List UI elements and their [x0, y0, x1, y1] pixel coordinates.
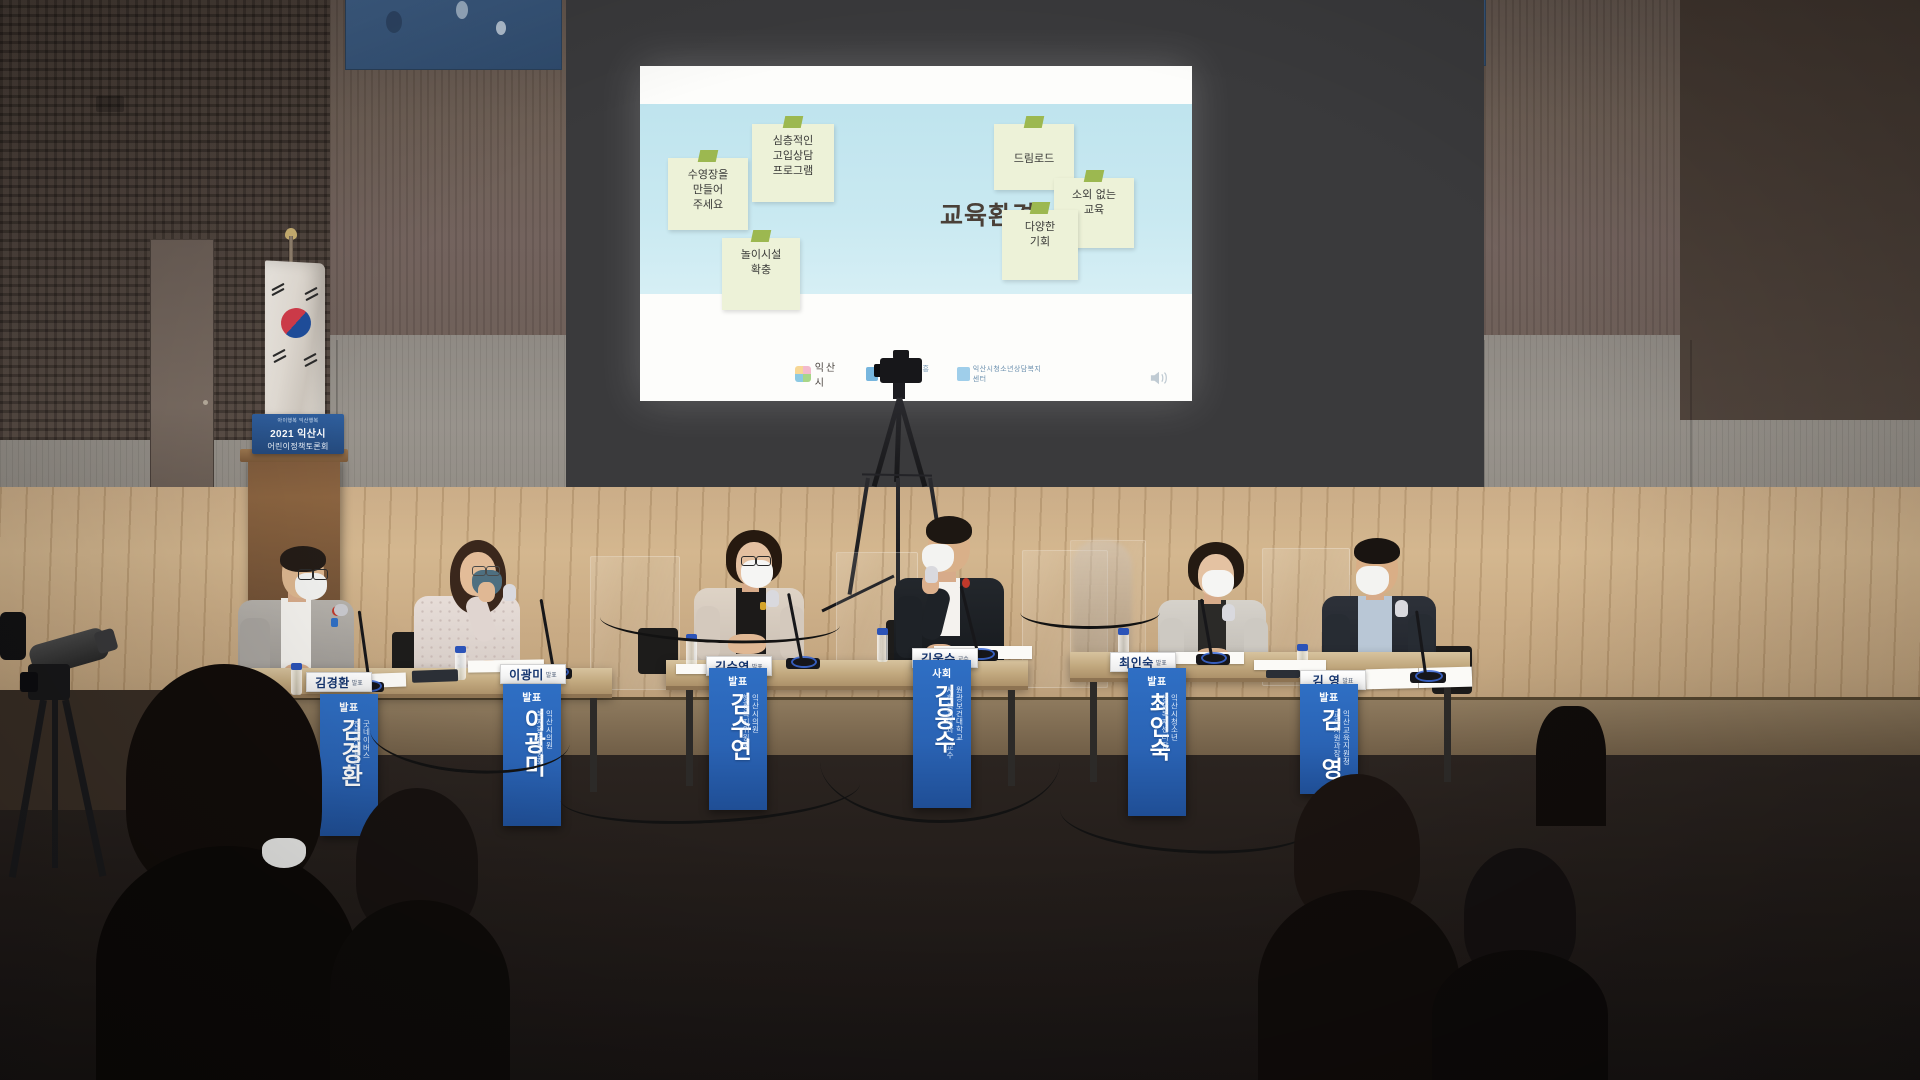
placard-role: 발표: [339, 699, 358, 714]
placard-title: 굿네이버스 전북지역본부: [352, 720, 371, 767]
iksan-logo-mark: [795, 366, 811, 382]
floor-cable: [820, 700, 1060, 823]
camera-operator-silhouette: [0, 612, 26, 660]
placard-role: 사회: [932, 665, 951, 680]
water-bottle[interactable]: [291, 669, 302, 695]
namecard-lee-gwangmi: 이광미 발표: [500, 664, 566, 684]
document-paper[interactable]: [1254, 660, 1326, 670]
namecard-name: 이광미: [509, 666, 544, 683]
sticky-note-playground: 놀이시설 확충: [722, 238, 800, 310]
audience-mask: [262, 838, 306, 868]
bottle-cap[interactable]: [1297, 644, 1308, 651]
microphone-windscreen: [334, 604, 348, 616]
audience-shoulders-3: [1258, 890, 1460, 1080]
camera-lens: [20, 672, 38, 692]
lapel-pin: [962, 578, 970, 588]
audience-head-5: [1536, 706, 1606, 826]
iksan-logo-text: 익산시: [815, 359, 844, 389]
audience-shoulders-4: [1432, 950, 1608, 1080]
counseling-center-text: 익산시청소년상담복지센터: [973, 364, 1045, 384]
water-bottle[interactable]: [877, 634, 888, 662]
table-leg: [1090, 682, 1097, 782]
podium-sign-line2: 2021 익산시: [270, 425, 326, 440]
microphone-head: [1222, 604, 1235, 621]
podium-sign-line1: 아이행복 익산행복: [278, 417, 319, 424]
audience-shoulders-2: [330, 900, 510, 1080]
microphone-indicator: [1201, 652, 1227, 664]
placard-role: 발표: [728, 673, 747, 688]
door-knob[interactable]: [203, 400, 208, 405]
tripod-leg: [52, 700, 58, 868]
projected-slide: 교육환경 수영장을 만들어 주세요 심층적인 고입상담 프로그램 놀이시설 확충…: [640, 66, 1192, 401]
audience-shoulders-1: [96, 846, 358, 1080]
bottle-cap[interactable]: [455, 646, 466, 653]
namecard-role: 발표: [352, 678, 363, 687]
right-dark-wall: [1680, 0, 1920, 420]
tablet-device[interactable]: [1266, 670, 1300, 678]
table-leg: [1444, 682, 1451, 782]
camcorder-handle: [893, 350, 909, 359]
namecard-kim-gyeonghwan: 김경환 발표: [306, 672, 372, 692]
table-cable: [1020, 596, 1160, 629]
microphone-indicator: [1415, 670, 1443, 682]
logo-counseling-center: 익산시청소년상담복지센터: [957, 364, 1045, 384]
tripod-head: [893, 383, 905, 399]
conference-photo-scene: 교육환경 수영장을 만들어 주세요 심층적인 고입상담 프로그램 놀이시설 확충…: [0, 0, 1920, 1080]
placard-title: 익산교육지원청 교육지원과장: [1332, 710, 1351, 765]
sticky-note-counseling: 심층적인 고입상담 프로그램: [752, 124, 834, 202]
microphone-head: [503, 584, 516, 601]
placard-title: 익산시청소년 상담복지센터장: [1160, 694, 1179, 749]
microphone-head: [925, 566, 938, 583]
bottle-cap[interactable]: [877, 628, 888, 635]
sticky-note-swimming: 수영장을 만들어 주세요: [668, 158, 748, 230]
speaker-icon: [1148, 369, 1170, 387]
wall-art-left: [345, 0, 562, 70]
placard-role: 발표: [522, 689, 541, 704]
namecard-role: 발표: [1156, 658, 1167, 667]
logo-iksan: 익산시: [795, 359, 844, 389]
wall-vent: [96, 96, 124, 112]
sticky-note-opportunity: 다양한 기회: [1002, 210, 1078, 280]
namecard-role: 발표: [546, 670, 557, 679]
bottle-cap[interactable]: [291, 663, 302, 670]
microphone-indicator: [791, 656, 817, 668]
camcorder-body: [880, 358, 922, 383]
placard-role: 발표: [1147, 673, 1166, 688]
placard-title: 익산시의원 행정복지위원회: [741, 694, 760, 749]
placard-role: 발표: [1319, 689, 1338, 704]
bottle-cap[interactable]: [1118, 628, 1129, 635]
podium-sign: 아이행복 익산행복 2021 익산시 어린이정책토론회: [252, 414, 344, 454]
namecard-name: 김경환: [315, 674, 350, 691]
lapel-pin: [331, 618, 338, 627]
korean-flag: [265, 260, 325, 423]
counseling-center-mark: [957, 367, 969, 381]
microphone-head: [1395, 600, 1408, 617]
tablet-device[interactable]: [412, 669, 458, 683]
podium-sign-line3: 어린이정책토론회: [267, 441, 328, 452]
